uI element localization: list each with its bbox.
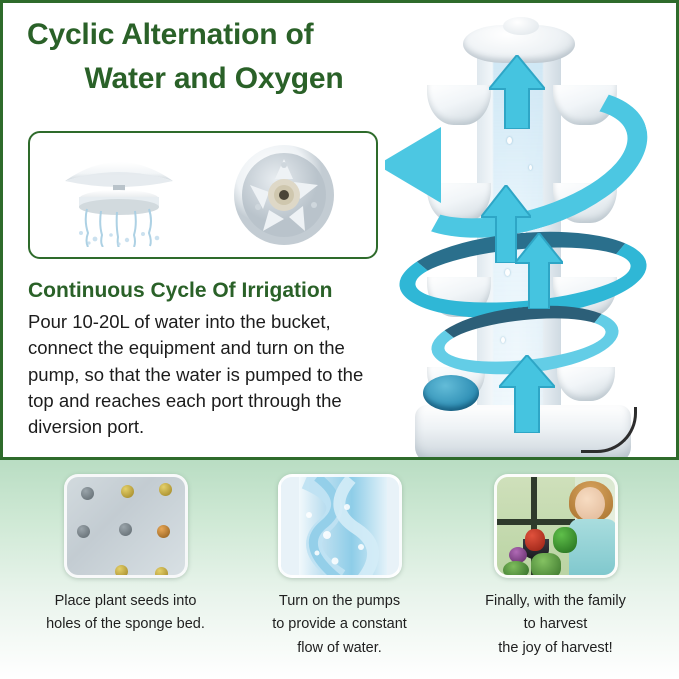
headline-line-1: Cyclic Alternation of: [17, 13, 397, 57]
step-caption-2-line-1: Turn on the pumps: [232, 590, 447, 613]
top-framed-panel: Cyclic Alternation of Water and Oxygen: [0, 0, 679, 460]
step-caption-3: Finally, with the family to harvest the …: [448, 590, 663, 660]
step-caption-3-line-3: the joy of harvest!: [448, 637, 663, 660]
feature-photo-diversion-disc: [210, 139, 370, 251]
step-caption-3-line-2: to harvest: [448, 613, 663, 636]
family-harvest-thumbnail: [494, 474, 618, 578]
step-caption-2: Turn on the pumps to provide a constant …: [232, 590, 447, 660]
flowing-water-thumbnail: [278, 474, 402, 578]
diversion-disc-icon: [232, 143, 336, 247]
step-card-1: Place plant seeds into holes of the spon…: [18, 474, 233, 637]
hydroponic-tower-illustration: [385, 7, 677, 459]
step-caption-2-line-2: to provide a constant: [232, 613, 447, 636]
headline-line-2: Water and Oxygen: [17, 57, 397, 101]
step-caption-1-line-1: Place plant seeds into: [18, 590, 233, 613]
feature-photo-sprinkler-head: [37, 139, 197, 251]
step-caption-3-line-1: Finally, with the family: [448, 590, 663, 613]
section-subheading: Continuous Cycle Of Irrigation: [28, 279, 333, 303]
step-caption-1-line-2: holes of the sponge bed.: [18, 613, 233, 636]
step-card-3: Finally, with the family to harvest the …: [448, 474, 663, 660]
bottom-steps-panel: Place plant seeds into holes of the spon…: [0, 460, 679, 679]
up-arrow-top: [489, 55, 545, 129]
swirl-arrowhead-left: [385, 127, 449, 203]
page-title: Cyclic Alternation of Water and Oxygen: [17, 13, 397, 100]
bucket-lid: [423, 375, 479, 411]
step-card-2: Turn on the pumps to provide a constant …: [232, 474, 447, 660]
steps-row: Place plant seeds into holes of the spon…: [0, 460, 679, 679]
feature-photo-box: [28, 131, 378, 259]
section-body-text: Pour 10-20L of water into the bucket, co…: [28, 309, 388, 440]
tower-pot-right-4: [557, 367, 615, 401]
sprinkler-head-icon: [55, 147, 183, 247]
infographic-page: Cyclic Alternation of Water and Oxygen: [0, 0, 679, 679]
up-arrow-lower-middle: [515, 233, 563, 309]
up-arrow-base: [499, 355, 555, 433]
step-caption-1: Place plant seeds into holes of the spon…: [18, 590, 233, 637]
tower-top-knob: [503, 17, 539, 35]
step-caption-2-line-3: flow of water.: [232, 637, 447, 660]
sponge-bed-thumbnail: [64, 474, 188, 578]
